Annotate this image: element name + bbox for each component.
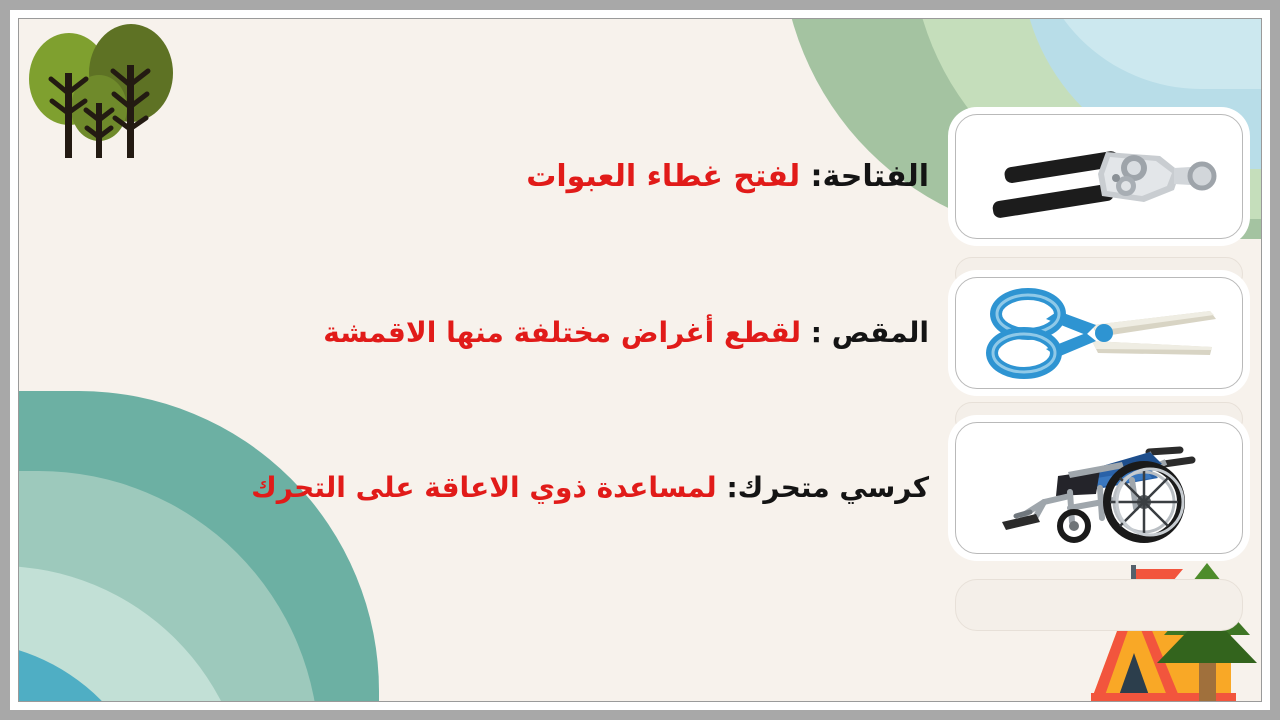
- content-rows: الفتاحة: لفتح غطاء العبوات: [19, 19, 1261, 701]
- scissors-image[interactable]: [955, 277, 1243, 389]
- list-item: كرسي متحرك: لمساعدة ذوي الاعاقة على التح…: [63, 422, 1243, 554]
- item-description: لقطع أغراض مختلفة منها الاقمشة: [323, 316, 801, 349]
- wheelchair-image[interactable]: [955, 422, 1243, 554]
- item-term: الفتاحة:: [811, 159, 929, 194]
- can-opener-image[interactable]: [955, 114, 1243, 239]
- item-text: كرسي متحرك: لمساعدة ذوي الاعاقة على التح…: [63, 470, 955, 507]
- item-term: كرسي متحرك:: [726, 471, 929, 504]
- item-term: المقص :: [801, 316, 929, 349]
- list-item: الفتاحة: لفتح غطاء العبوات: [63, 114, 1243, 239]
- slide-outer-frame: الفتاحة: لفتح غطاء العبوات: [0, 0, 1280, 720]
- item-text: المقص : لقطع أغراض مختلفة منها الاقمشة: [63, 315, 955, 352]
- item-text: الفتاحة: لفتح غطاء العبوات: [63, 157, 955, 197]
- item-description: لمساعدة ذوي الاعاقة على التحرك: [251, 471, 726, 504]
- list-item: المقص : لقطع أغراض مختلفة منها الاقمشة: [63, 277, 1243, 389]
- slide-canvas: الفتاحة: لفتح غطاء العبوات: [19, 19, 1261, 701]
- item-description: لفتح غطاء العبوات: [526, 159, 810, 194]
